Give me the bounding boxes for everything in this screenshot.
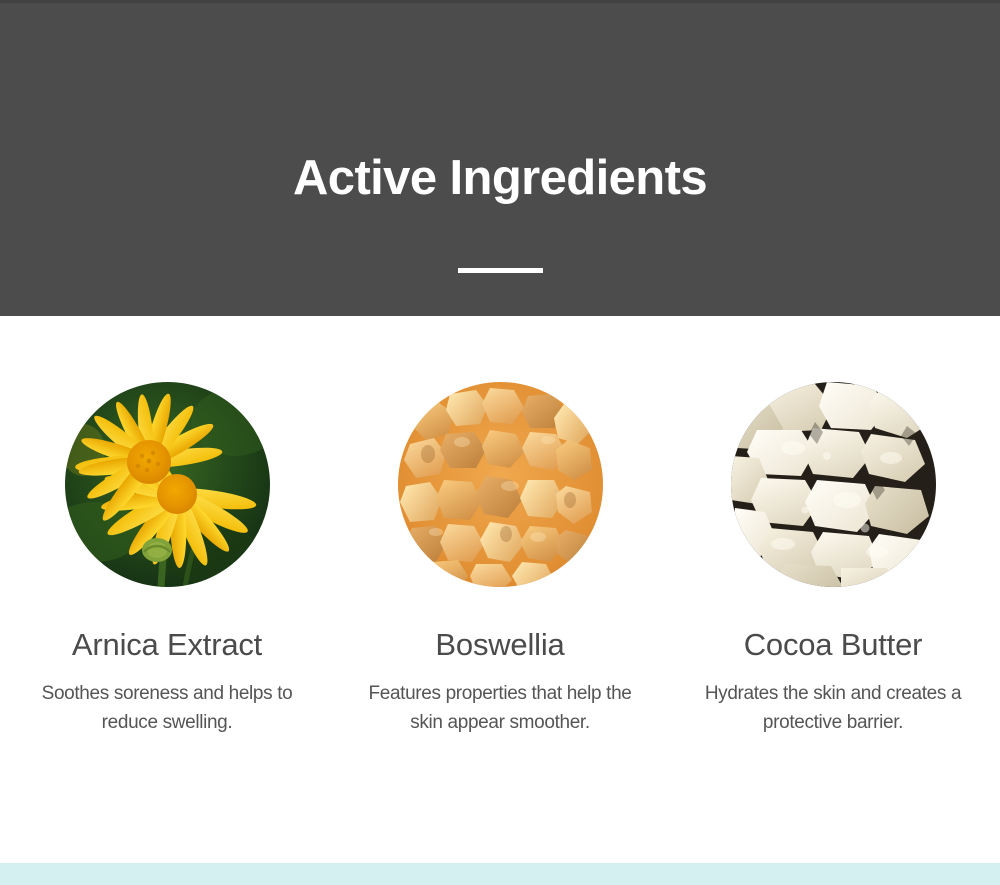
- ingredient-card-list: Arnica Extract Soothes soreness and help…: [0, 382, 1000, 737]
- ingredient-title: Boswellia: [435, 627, 564, 663]
- active-ingredients-page: Active Ingredients: [0, 0, 1000, 885]
- hero-banner: Active Ingredients: [0, 0, 1000, 316]
- boswellia-resin-photo: [398, 382, 603, 587]
- ingredient-description: Features properties that help the skin a…: [350, 679, 650, 737]
- ingredient-title: Cocoa Butter: [744, 627, 923, 663]
- arnica-flower-photo: [65, 382, 270, 587]
- ingredient-card-arnica: Arnica Extract Soothes soreness and help…: [1, 382, 334, 737]
- footer-accent-band: [0, 863, 1000, 885]
- cocoa-butter-photo: [731, 382, 936, 587]
- title-divider: [458, 268, 543, 273]
- ingredient-title: Arnica Extract: [72, 627, 262, 663]
- ingredient-description: Hydrates the skin and creates a protecti…: [683, 679, 983, 737]
- ingredient-card-cocoa-butter: Cocoa Butter Hydrates the skin and creat…: [667, 382, 1000, 737]
- page-title: Active Ingredients: [0, 148, 1000, 208]
- ingredient-description: Soothes soreness and helps to reduce swe…: [17, 679, 317, 737]
- ingredient-card-boswellia: Boswellia Features properties that help …: [334, 382, 667, 737]
